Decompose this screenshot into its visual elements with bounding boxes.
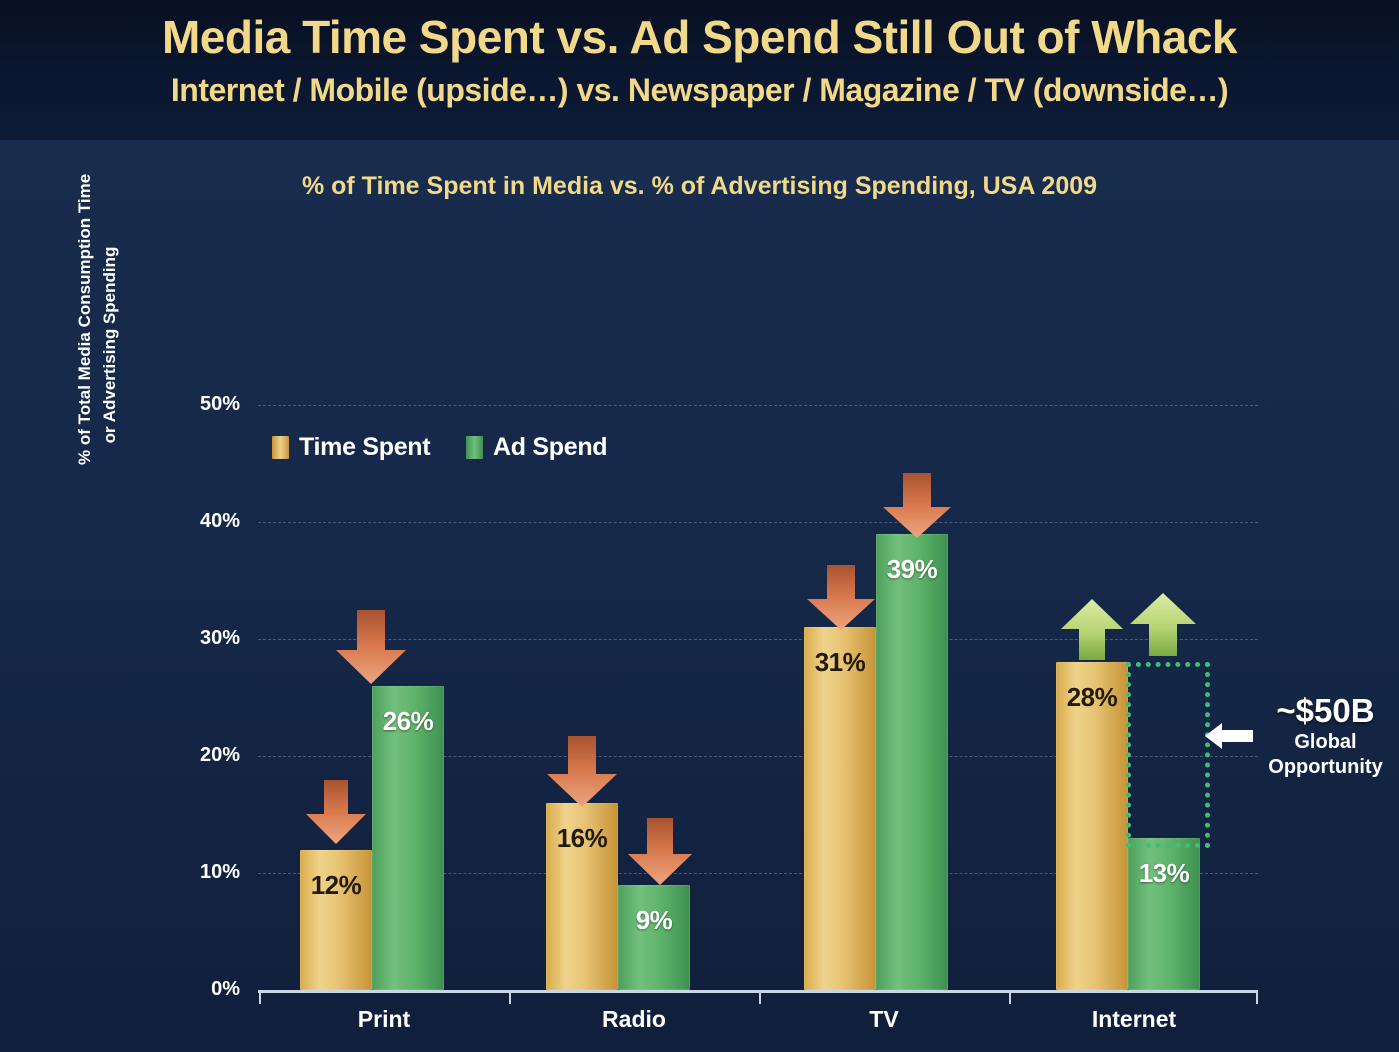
callout-line1: Global — [1252, 730, 1399, 755]
x-label-print: Print — [259, 1006, 509, 1033]
y-tick-label: 30% — [160, 627, 240, 650]
bar-value-label: 26% — [372, 706, 444, 737]
x-label-tv: TV — [759, 1006, 1009, 1033]
y-tick-label: 0% — [160, 978, 240, 1001]
x-axis-tick — [1009, 990, 1011, 1004]
down-arrow-icon — [883, 473, 951, 539]
legend-swatch-gold — [272, 436, 289, 459]
callout-amount: ~$50B — [1252, 692, 1399, 730]
x-axis-tick — [759, 990, 761, 1004]
bar-value-label: 9% — [618, 905, 690, 936]
slide-body: % of Time Spent in Media vs. % of Advert… — [0, 140, 1399, 1052]
down-arrow-icon — [628, 818, 692, 886]
x-axis-tick — [509, 990, 511, 1004]
legend-label: Ad Spend — [493, 433, 607, 461]
bar-tv-time-spent[interactable]: 31% — [804, 627, 876, 990]
bar-value-label: 12% — [300, 870, 372, 901]
bar-value-label: 16% — [546, 823, 618, 854]
down-arrow-icon — [306, 780, 366, 845]
opportunity-box — [1126, 662, 1210, 848]
callout-left-arrow-icon — [1205, 723, 1253, 749]
down-arrow-icon — [547, 736, 617, 808]
y-tick-label: 20% — [160, 744, 240, 767]
bar-print-time-spent[interactable]: 12% — [300, 850, 372, 990]
bar-print-ad-spend[interactable]: 26% — [372, 686, 444, 990]
bar-tv-ad-spend[interactable]: 39% — [876, 534, 948, 990]
down-arrow-icon — [336, 610, 406, 685]
bar-radio-ad-spend[interactable]: 9% — [618, 885, 690, 990]
x-label-internet: Internet — [1009, 1006, 1259, 1033]
y-axis-title-line2: or Advertising Spending — [100, 225, 130, 465]
bar-value-label: 28% — [1056, 682, 1128, 713]
up-arrow-icon — [1061, 599, 1123, 661]
legend-item-time-spent[interactable]: Time Spent — [272, 433, 430, 463]
bar-internet-ad-spend[interactable]: 13% — [1128, 838, 1200, 990]
bar-internet-time-spent[interactable]: 28% — [1056, 662, 1128, 990]
up-arrow-icon — [1130, 593, 1196, 657]
opportunity-callout: ~$50B Global Opportunity — [1252, 692, 1399, 780]
slide-header: Media Time Spent vs. Ad Spend Still Out … — [0, 0, 1399, 140]
bar-value-label: 31% — [804, 647, 876, 678]
page-subtitle: Internet / Mobile (upside…) vs. Newspape… — [0, 72, 1399, 109]
bar-radio-time-spent[interactable]: 16% — [546, 803, 618, 990]
down-arrow-icon — [807, 565, 875, 631]
legend-swatch-green — [466, 436, 483, 459]
x-axis-line — [258, 990, 1258, 993]
callout-line2: Opportunity — [1252, 755, 1399, 780]
legend-label: Time Spent — [299, 433, 430, 461]
y-tick-label: 10% — [160, 861, 240, 884]
x-label-radio: Radio — [509, 1006, 759, 1033]
x-axis-tick — [1256, 990, 1258, 1004]
x-axis-tick — [259, 990, 261, 1004]
y-axis-ticks: 50% 40% 30% 20% 10% 0% — [160, 140, 240, 1052]
y-tick-label: 50% — [160, 393, 240, 416]
bar-value-label: 13% — [1128, 858, 1200, 889]
slide: Media Time Spent vs. Ad Spend Still Out … — [0, 0, 1399, 1052]
legend-item-ad-spend[interactable]: Ad Spend — [466, 433, 607, 463]
plot-area: 12% 26% 16% 9% 31% — [258, 140, 1258, 990]
y-tick-label: 40% — [160, 510, 240, 533]
page-title: Media Time Spent vs. Ad Spend Still Out … — [0, 10, 1399, 64]
bar-value-label: 39% — [876, 554, 948, 585]
